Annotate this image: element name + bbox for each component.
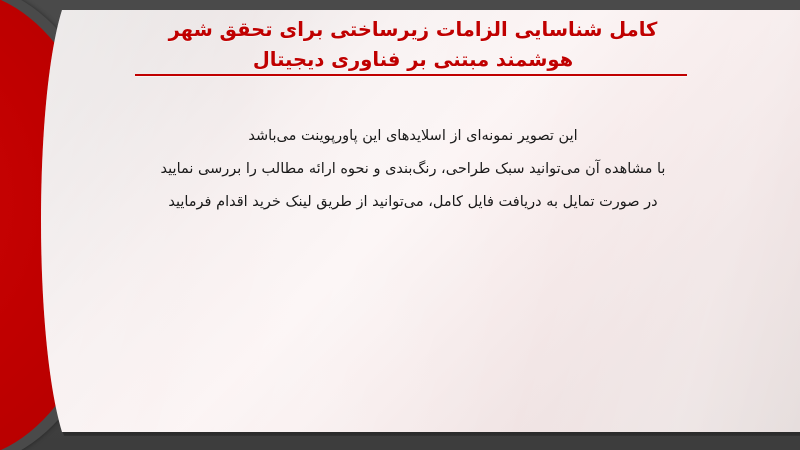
slide-body-text: این تصویر نمونه‌ای از اسلایدهای این پاور… (26, 120, 800, 219)
slide-content: کامل شناسایی الزامات زیرساختی برای تحقق … (26, 10, 800, 432)
title-underline-rule (135, 74, 687, 76)
slide-canvas: کامل شناسایی الزامات زیرساختی برای تحقق … (0, 0, 800, 450)
body-line-2: با مشاهده آن می‌توانید سبک طراحی، رنگ‌بن… (26, 153, 800, 186)
body-line-3: در صورت تمایل به دریافت فایل کامل، می‌تو… (26, 186, 800, 219)
slide-title-line-1: کامل شناسایی الزامات زیرساختی برای تحقق … (26, 15, 800, 45)
slide-title: کامل شناسایی الزامات زیرساختی برای تحقق … (26, 15, 800, 74)
slide-title-line-2: هوشمند مبتنی بر فناوری دیجیتال (26, 45, 800, 75)
body-line-1: این تصویر نمونه‌ای از اسلایدهای این پاور… (26, 120, 800, 153)
